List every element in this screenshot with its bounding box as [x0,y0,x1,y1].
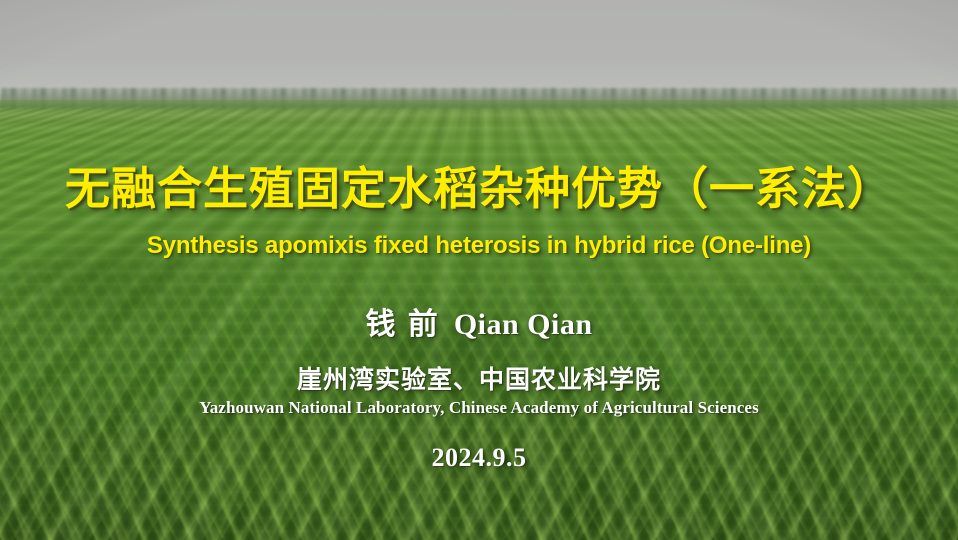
presentation-date: 2024.9.5 [0,443,958,473]
slide-subtitle-english: Synthesis apomixis fixed heterosis in hy… [0,232,958,260]
slide-content: 无融合生殖固定水稻杂种优势（一系法） Synthesis apomixis fi… [0,0,958,540]
affiliation-chinese: 崖州湾实验室、中国农业科学院 [0,360,958,396]
author-line: 钱 前Qian Qian [0,299,958,343]
slide-title-chinese: 无融合生殖固定水稻杂种优势（一系法） [0,152,958,217]
author-name-chinese: 钱 前 [365,308,439,341]
author-name-english: Qian Qian [454,308,593,341]
presentation-title-slide: 无融合生殖固定水稻杂种优势（一系法） Synthesis apomixis fi… [0,0,958,540]
affiliation-english: Yazhouwan National Laboratory, Chinese A… [0,398,958,418]
